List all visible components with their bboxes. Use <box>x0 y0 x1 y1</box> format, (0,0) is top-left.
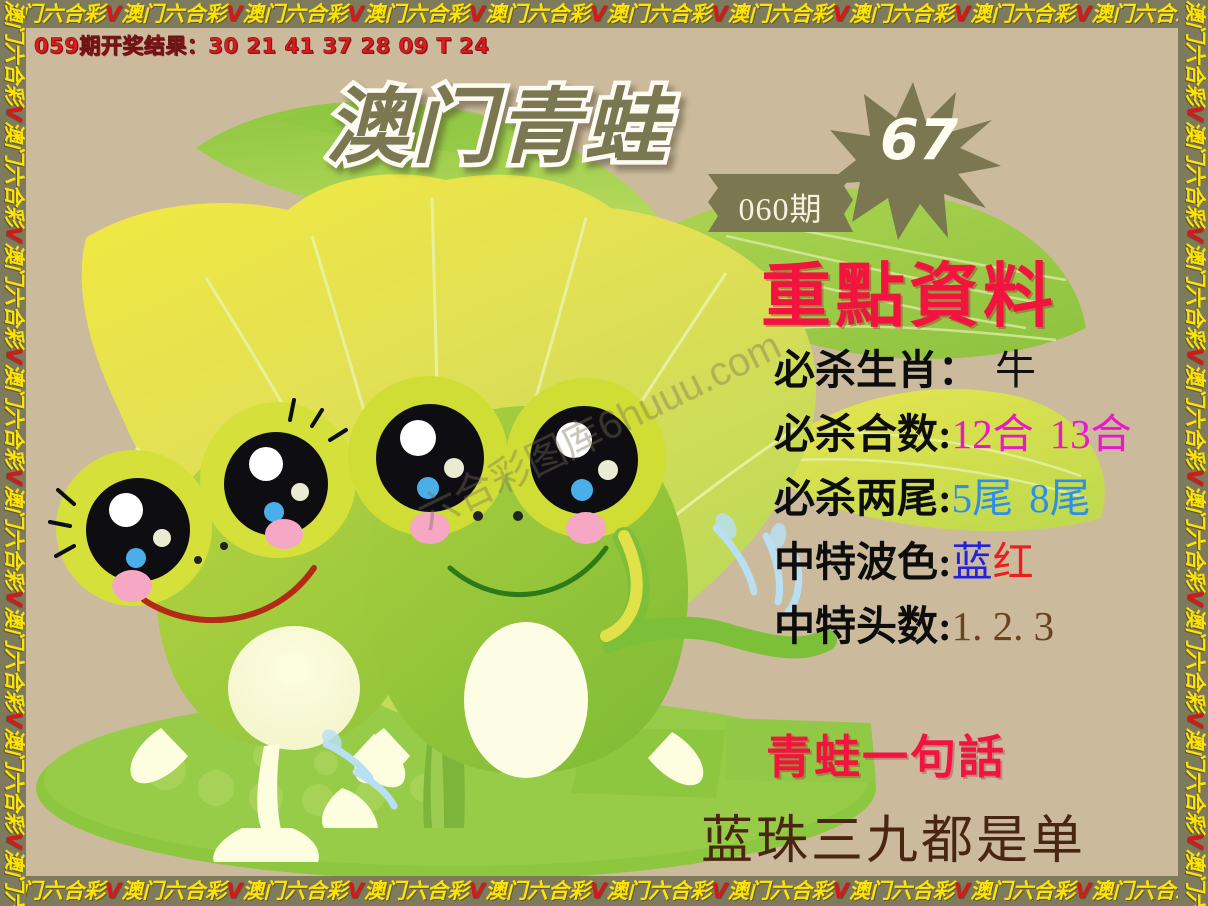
info-label: 必杀生肖： <box>774 347 979 393</box>
border-repeat-text: 澳门六合彩V澳门六合彩V澳门六合彩V澳门六合彩V澳门六合彩V澳门六合彩V澳门六合… <box>0 881 1208 902</box>
info-row-head-count: 中特头数:1. 2. 3 <box>774 594 1178 658</box>
info-value: 蓝 <box>952 539 993 585</box>
border-repeat-text: 澳门六合彩V澳门六合彩V澳门六合彩V澳门六合彩V澳门六合彩V澳门六合彩V澳门六合… <box>0 4 1208 25</box>
info-value: 牛 <box>995 347 1036 393</box>
info-label: 必杀两尾: <box>774 475 952 521</box>
poster-canvas: 六合彩图库6huuu.com 059期开奖结果：30 21 41 37 28 0… <box>26 28 1178 876</box>
info-label: 必杀合数: <box>774 411 952 457</box>
phrase-heading: 青蛙一句話 <box>766 721 1006 787</box>
info-value: 5尾 <box>952 475 1014 521</box>
border-bottom: 澳门六合彩V澳门六合彩V澳门六合彩V澳门六合彩V澳门六合彩V澳门六合彩V澳门六合… <box>0 876 1208 906</box>
info-label: 中特头数: <box>774 603 952 649</box>
burst-number: 67 <box>864 108 974 173</box>
draw-result-line: 059期开奖结果：30 21 41 37 28 09 T 24 <box>34 30 489 60</box>
border-repeat-text: 澳门六合彩V澳门六合彩V澳门六合彩V澳门六合彩V澳门六合彩V澳门六合彩V澳门六合… <box>3 0 24 906</box>
info-row-tails: 必杀两尾:5尾8尾 <box>774 466 1178 530</box>
border-repeat-text: 澳门六合彩V澳门六合彩V澳门六合彩V澳门六合彩V澳门六合彩V澳门六合彩V澳门六合… <box>1184 0 1205 906</box>
info-value-2: 8尾 <box>1029 475 1091 521</box>
phrase-text: 蓝珠三九都是单 <box>701 798 1086 873</box>
poster-root: 六合彩图库6huuu.com 059期开奖结果：30 21 41 37 28 0… <box>0 0 1208 906</box>
border-left: 澳门六合彩V澳门六合彩V澳门六合彩V澳门六合彩V澳门六合彩V澳门六合彩V澳门六合… <box>0 0 26 906</box>
issue-label: 060期 <box>698 184 863 230</box>
info-value: 12合 <box>952 411 1034 457</box>
info-row-wave-color: 中特波色:蓝红 <box>774 530 1178 594</box>
border-right: 澳门六合彩V澳门六合彩V澳门六合彩V澳门六合彩V澳门六合彩V澳门六合彩V澳门六合… <box>1178 0 1208 906</box>
focus-heading: 重點資料 <box>761 240 1057 341</box>
info-row-zodiac: 必杀生肖：牛 <box>774 338 1178 402</box>
border-top: 澳门六合彩V澳门六合彩V澳门六合彩V澳门六合彩V澳门六合彩V澳门六合彩V澳门六合… <box>0 0 1208 28</box>
page-title: 澳门青蛙 <box>326 60 670 179</box>
info-value: 1. 2. 3 <box>952 603 1055 649</box>
info-value-2: 13合 <box>1050 411 1132 457</box>
info-value-2: 红 <box>993 539 1034 585</box>
focus-info-list: 必杀生肖：牛 必杀合数:12合13合 必杀两尾:5尾8尾 中特波色:蓝红 中特头… <box>774 338 1178 658</box>
info-label: 中特波色: <box>774 539 952 585</box>
info-row-sum: 必杀合数:12合13合 <box>774 402 1178 466</box>
